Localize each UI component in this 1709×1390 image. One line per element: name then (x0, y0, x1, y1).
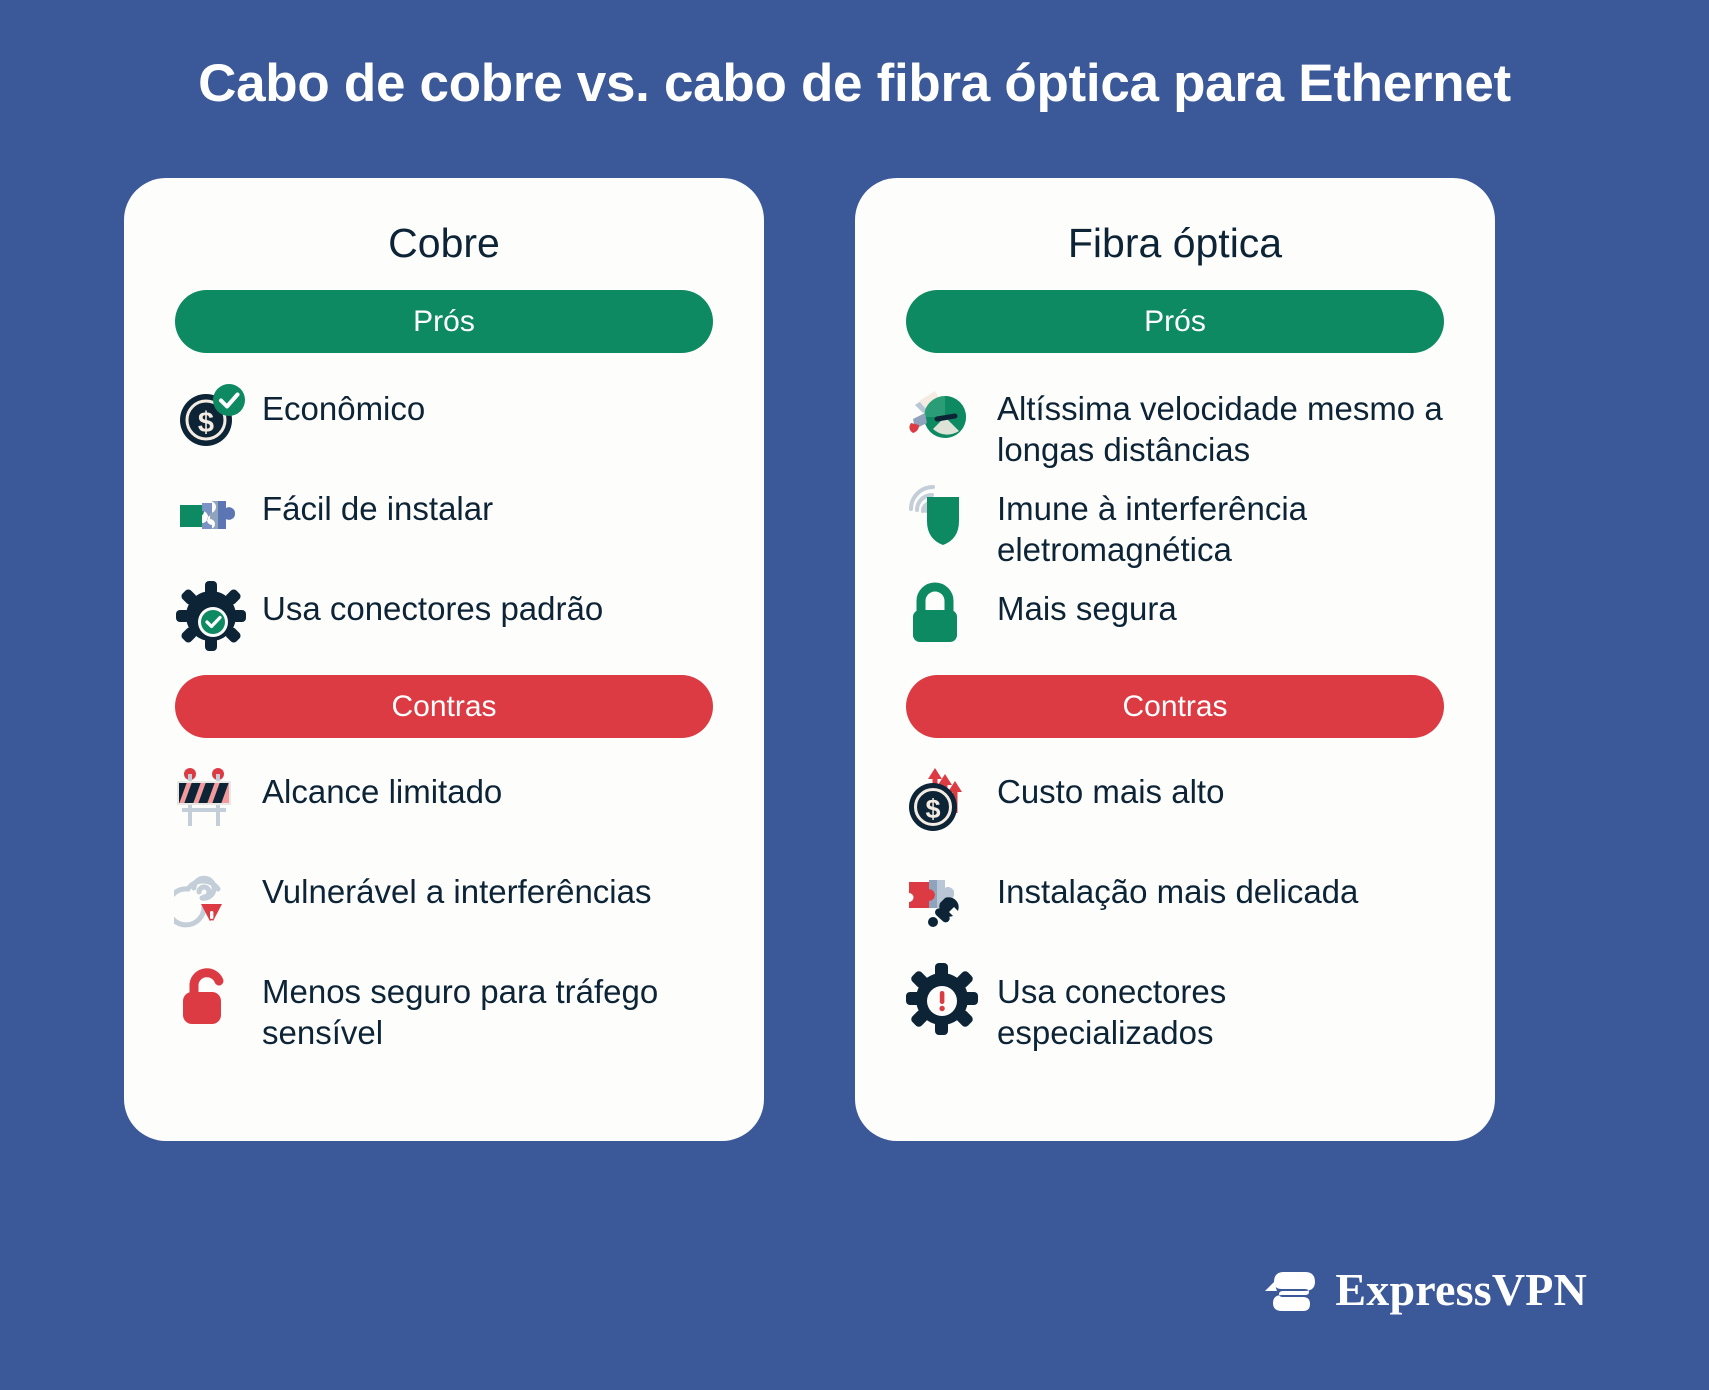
comparison-cards: Cobre Prós $ Econômico (124, 178, 1586, 1141)
list-item-label: Alcance limitado (250, 758, 502, 812)
list-item: Usa conectores padrão (172, 575, 718, 675)
list-item-label: Vulnerável a interferências (250, 858, 652, 912)
list-item-label: Usa conectores especializados (981, 958, 1449, 1053)
pros-pill-label: Prós (413, 305, 475, 339)
rocket-icon (903, 377, 981, 455)
gear-check-icon (172, 577, 250, 655)
pros-pill-label: Prós (1144, 305, 1206, 339)
pros-pill: Prós (175, 290, 713, 353)
list-item: Fácil de instalar (172, 475, 718, 575)
locked-padlock-icon (903, 577, 981, 655)
list-item: Mais segura (903, 575, 1449, 675)
list-item-label: Mais segura (981, 575, 1177, 629)
list-item: Instalação mais delicada (903, 858, 1449, 958)
expressvpn-logo-icon (1259, 1258, 1321, 1320)
puzzle-pieces-icon (172, 477, 250, 555)
list-item-label: Fácil de instalar (250, 475, 493, 529)
list-item-label: Menos seguro para tráfego sensível (250, 958, 718, 1053)
infographic-page: Cabo de cobre vs. cabo de fibra óptica p… (0, 0, 1709, 1390)
cons-pill-label: Contras (391, 690, 496, 724)
list-item: Usa conectores especializados (903, 958, 1449, 1058)
pros-pill: Prós (906, 290, 1444, 353)
cons-list: Alcance limitado (124, 758, 764, 1058)
list-item: Vulnerável a interferências (172, 858, 718, 958)
shield-signal-icon (903, 477, 981, 555)
pros-list: $ Econômico (124, 375, 764, 675)
puzzle-wrench-icon (903, 860, 981, 938)
cons-list: $ Custo mais alto (855, 758, 1495, 1058)
cons-pill: Contras (906, 675, 1444, 738)
gear-exclamation-icon (903, 960, 981, 1038)
card-heading: Fibra óptica (855, 204, 1495, 290)
unlocked-padlock-icon (172, 960, 250, 1038)
page-title: Cabo de cobre vs. cabo de fibra óptica p… (0, 52, 1709, 116)
card-cobre: Cobre Prós $ Econômico (124, 178, 764, 1141)
cons-pill-label: Contras (1122, 690, 1227, 724)
expressvpn-logo: ExpressVPN (1259, 1258, 1587, 1320)
list-item: Imune à interferência eletromagnética (903, 475, 1449, 575)
list-item-label: Custo mais alto (981, 758, 1224, 812)
list-item: Alcance limitado (172, 758, 718, 858)
card-bottom-spacer (124, 1058, 764, 1089)
list-item: Altíssima velocidade mesmo a longas dist… (903, 375, 1449, 475)
coin-rising-arrows-icon: $ (903, 760, 981, 838)
list-item: $ Econômico (172, 375, 718, 475)
pros-list: Altíssima velocidade mesmo a longas dist… (855, 375, 1495, 675)
card-heading: Cobre (124, 204, 764, 290)
list-item: Menos seguro para tráfego sensível (172, 958, 718, 1058)
coin-check-icon: $ (172, 377, 250, 455)
svg-text:$: $ (198, 407, 214, 439)
list-item-label: Altíssima velocidade mesmo a longas dist… (981, 375, 1449, 470)
list-item-label: Usa conectores padrão (250, 575, 603, 629)
card-bottom-spacer (855, 1058, 1495, 1089)
list-item-label: Instalação mais delicada (981, 858, 1358, 912)
expressvpn-logo-text: ExpressVPN (1335, 1263, 1587, 1316)
svg-text:$: $ (925, 794, 940, 824)
list-item-label: Imune à interferência eletromagnética (981, 475, 1449, 570)
card-fibra-optica: Fibra óptica Prós (855, 178, 1495, 1141)
cons-pill: Contras (175, 675, 713, 738)
road-barrier-icon (172, 760, 250, 838)
list-item-label: Econômico (250, 375, 425, 429)
spiral-warning-icon (172, 860, 250, 938)
list-item: $ Custo mais alto (903, 758, 1449, 858)
